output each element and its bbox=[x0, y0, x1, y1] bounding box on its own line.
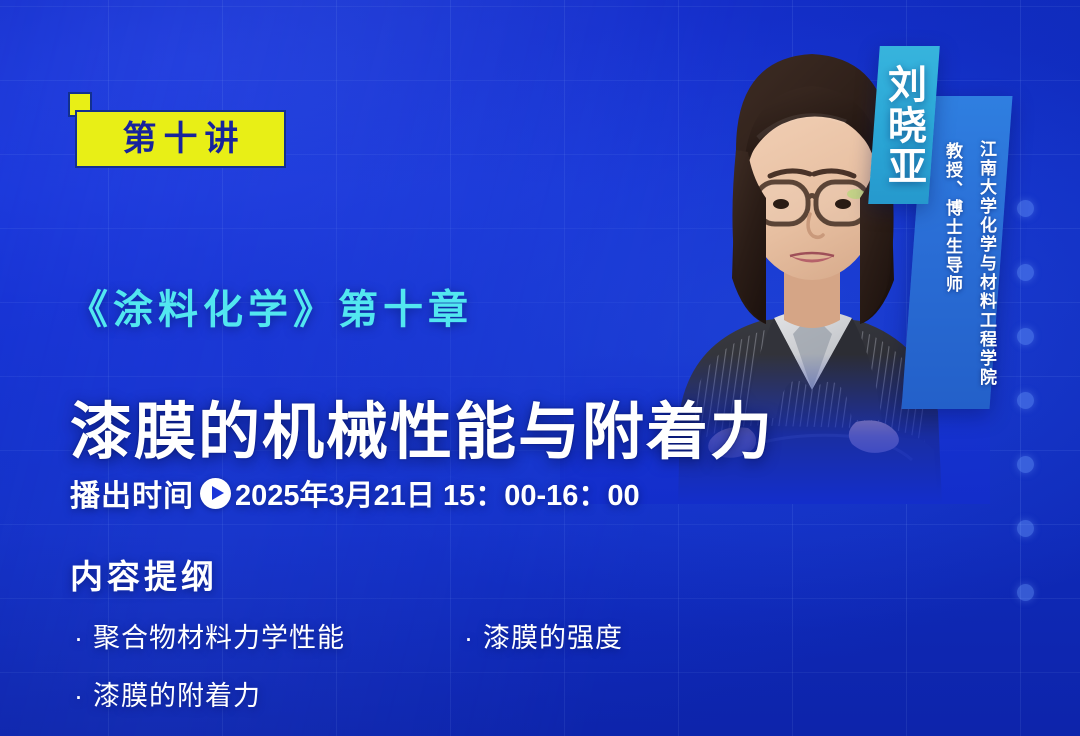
list-item: ·漆膜的附着力 bbox=[74, 674, 464, 713]
speaker-name: 刘晓亚 bbox=[885, 64, 924, 187]
decorative-dot bbox=[1017, 392, 1034, 409]
page-title: 漆膜的机械性能与附着力 bbox=[70, 381, 774, 471]
course-poster: 第十讲 《涂料化学》第十章 漆膜的机械性能与附着力 播出时间 2025年3月21… bbox=[0, 0, 1080, 736]
speaker-affiliation: 江南大学化学与材料工程学院 bbox=[978, 140, 995, 387]
decorative-dot bbox=[1017, 584, 1034, 601]
decorative-dot bbox=[1017, 328, 1034, 345]
outline-list: ·聚合物材料力学性能 ·漆膜的强度 ·漆膜的附着力 bbox=[74, 616, 694, 732]
bullet-icon: · bbox=[74, 681, 84, 712]
lecture-badge-label: 第十讲 bbox=[116, 122, 246, 156]
decorative-dot bbox=[1017, 520, 1034, 537]
course-subtitle: 《涂料化学》第十章 bbox=[68, 277, 473, 335]
airtime-value: 2025年3月21日 15：00-16：00 bbox=[235, 472, 640, 514]
list-item-label: 聚合物材料力学性能 bbox=[93, 623, 345, 653]
list-item-label: 漆膜的强度 bbox=[483, 623, 623, 653]
decorative-dot-column bbox=[1017, 200, 1034, 648]
decorative-dot bbox=[1017, 456, 1034, 473]
airtime-label: 播出时间 bbox=[70, 471, 194, 515]
speaker-role: 教授、博士生导师 bbox=[944, 142, 961, 294]
bullet-icon: · bbox=[464, 623, 474, 654]
list-item-label: 漆膜的附着力 bbox=[93, 681, 261, 711]
speaker-name-ribbon: 刘晓亚 bbox=[868, 46, 940, 204]
lecture-badge: 第十讲 bbox=[75, 110, 286, 168]
list-item: ·聚合物材料力学性能 bbox=[74, 616, 464, 655]
outline-heading: 内容提纲 bbox=[70, 550, 218, 598]
bullet-icon: · bbox=[74, 623, 84, 654]
decorative-dot bbox=[1017, 264, 1034, 281]
list-item: ·漆膜的强度 bbox=[464, 616, 694, 655]
airtime-row: 播出时间 2025年3月21日 15：00-16：00 bbox=[70, 471, 640, 515]
decorative-dot bbox=[1017, 200, 1034, 217]
play-icon[interactable] bbox=[200, 478, 231, 509]
